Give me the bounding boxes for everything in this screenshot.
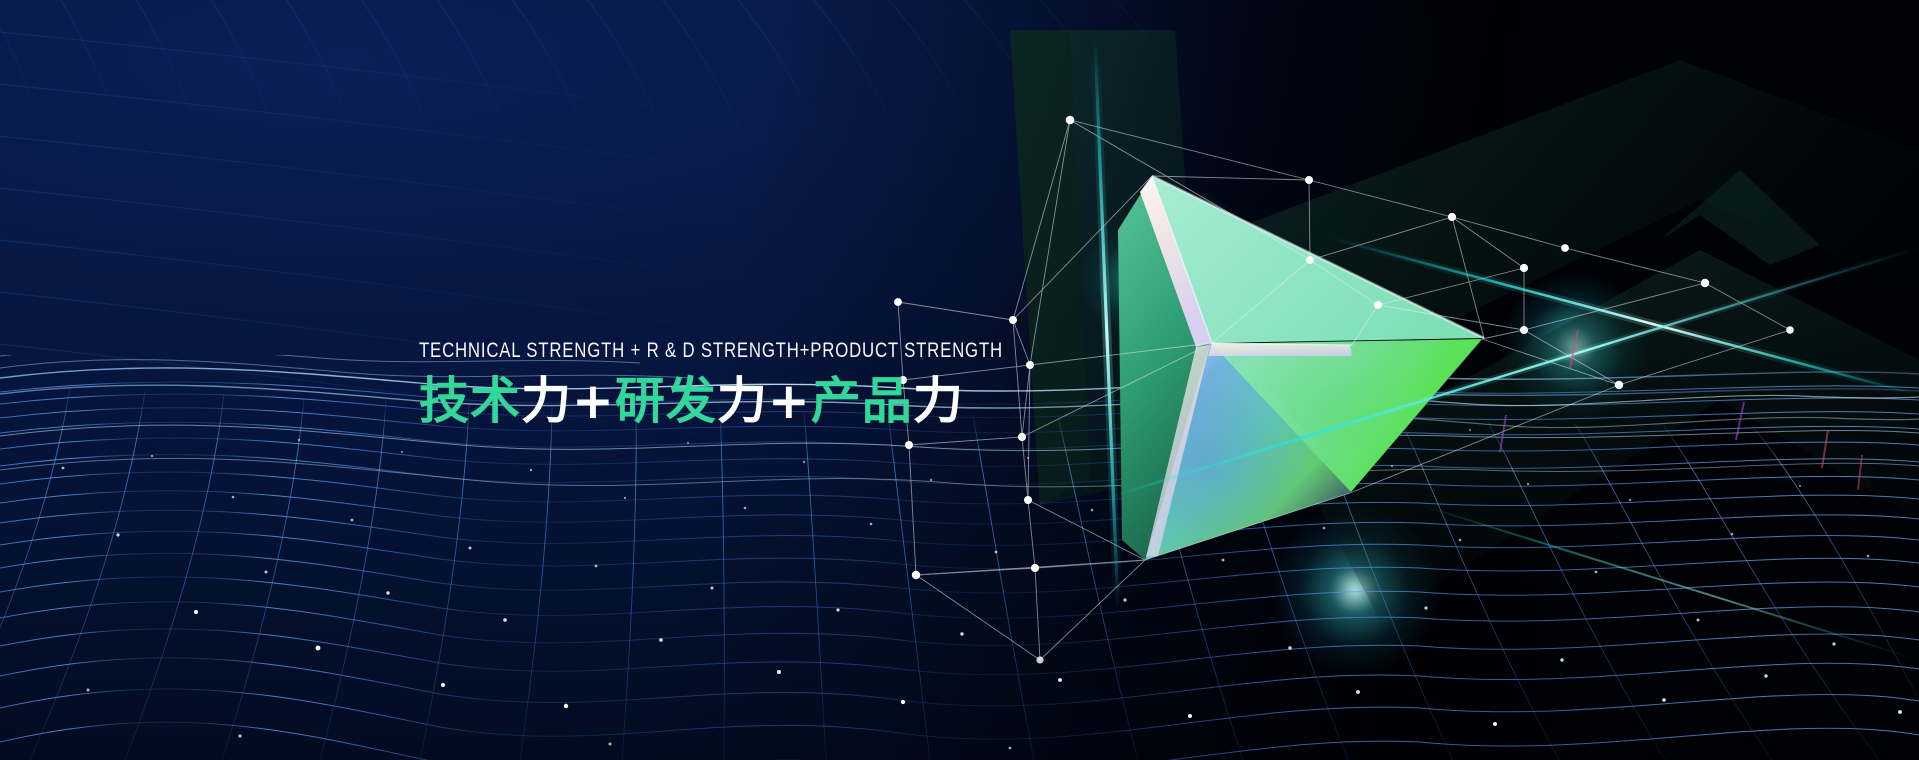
headline-segment-1: 技术 (419, 372, 521, 430)
headline-segment-8: 力 (913, 372, 964, 430)
headline-segment-4: 研发 (615, 372, 717, 430)
tagline-english: TECHNICAL STRENGTH + R & D STRENGTH+PROD… (419, 340, 1003, 361)
headline-chinese: 技术力+研发力+产品力 (419, 375, 1149, 428)
prism-glow-flare (1120, 185, 1250, 315)
right-beam-flare (1500, 272, 1650, 422)
headline-segment-2: 力 (521, 372, 572, 430)
headline-segment-7: 产品 (811, 372, 913, 430)
bottom-beam-flare (1270, 505, 1440, 675)
banner-text-block: TECHNICAL STRENGTH + R & D STRENGTH+PROD… (419, 340, 1149, 428)
headline-segment-3: + (572, 372, 615, 430)
headline-segment-5: 力 (717, 372, 768, 430)
vertical-beam-flare (1079, 225, 1189, 335)
hero-banner: TECHNICAL STRENGTH + R & D STRENGTH+PROD… (0, 0, 1919, 760)
headline-segment-6: + (768, 372, 811, 430)
